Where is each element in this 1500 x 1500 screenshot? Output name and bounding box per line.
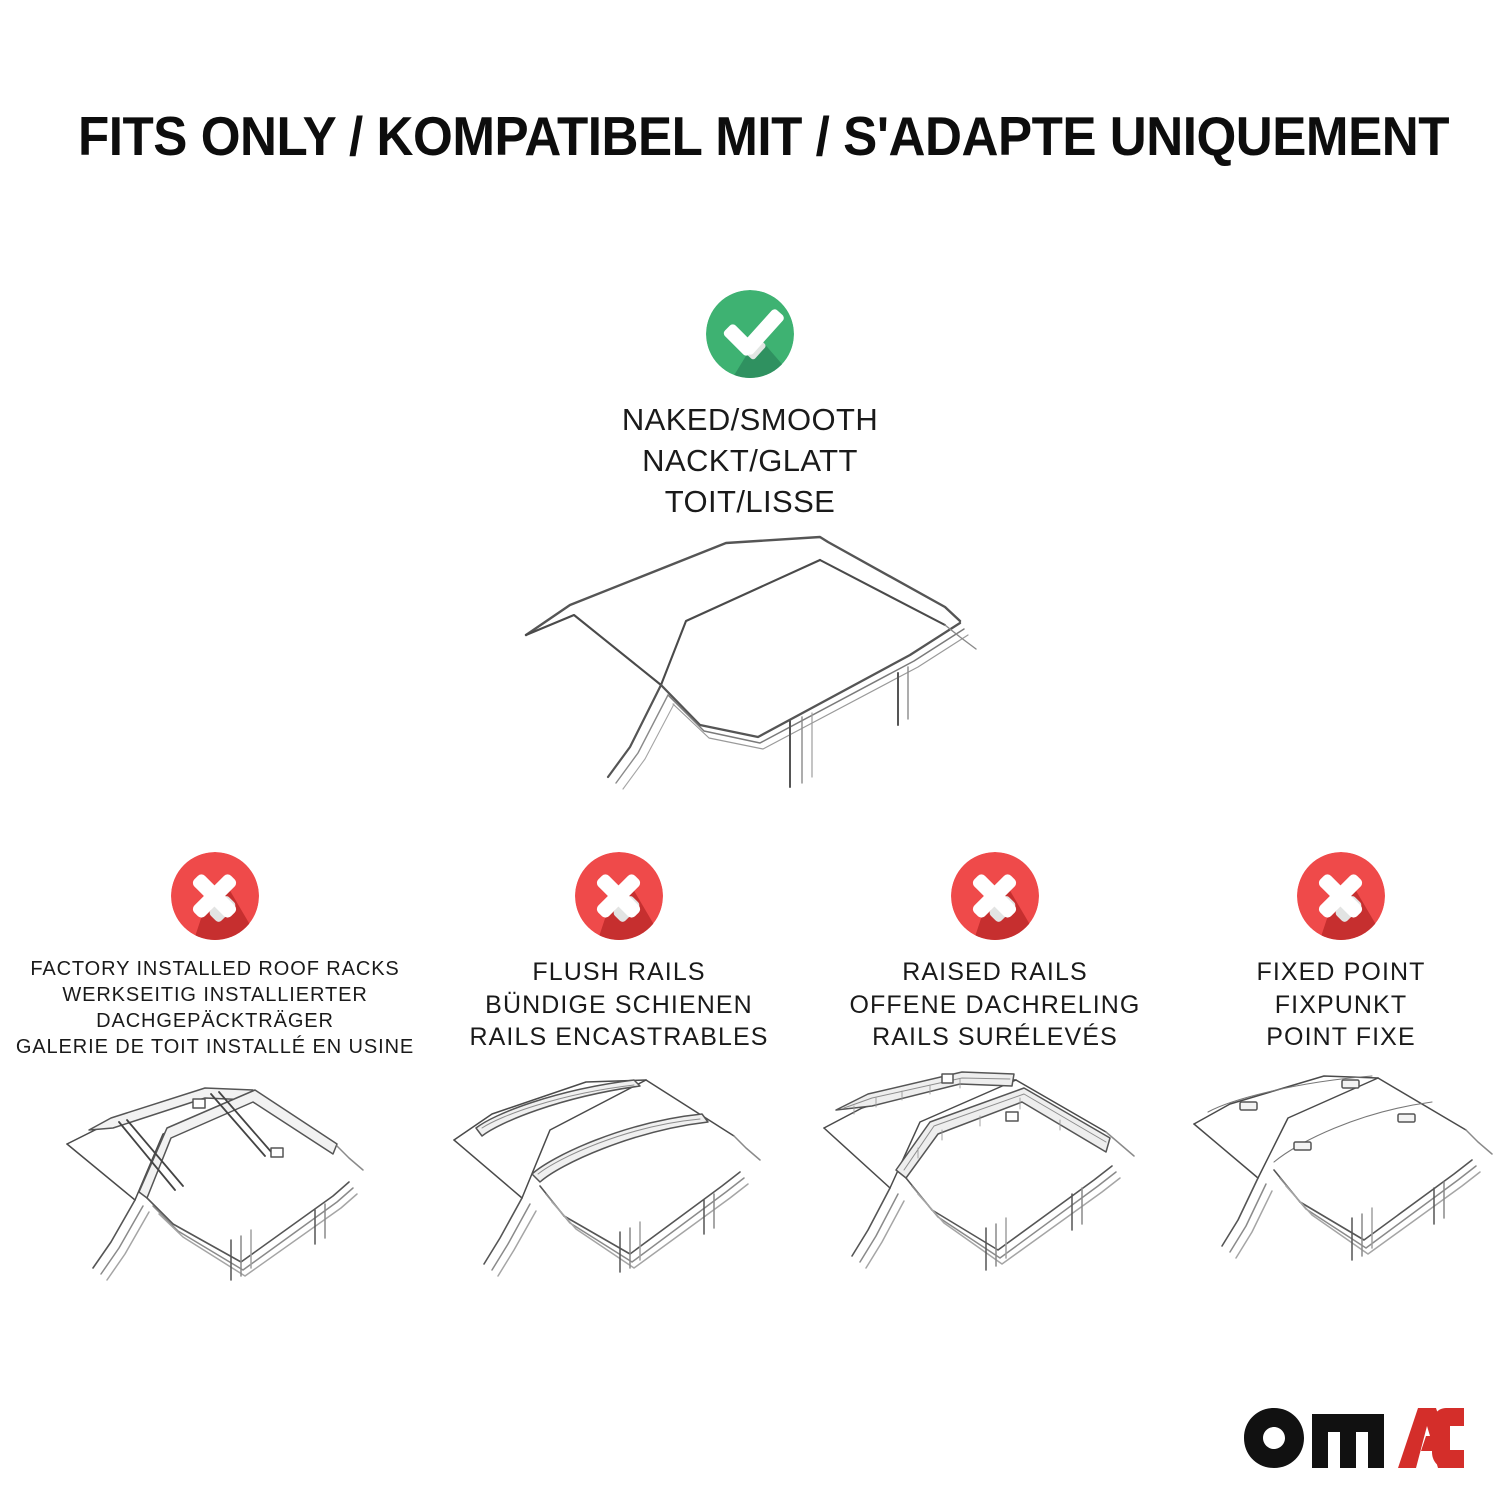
omac-logo: OMAC — [1240, 1406, 1468, 1470]
caption-line: RAILS SURÉLEVÉS — [808, 1021, 1182, 1054]
incompatible-section: FACTORY INSTALLED ROOF RACKS WERKSEITIG … — [0, 852, 1500, 1302]
incompatible-column-raised-rails: RAISED RAILS OFFENE DACHRELING RAILS SUR… — [808, 852, 1182, 1302]
caption-line: OFFENE DACHRELING — [808, 989, 1182, 1022]
caption-line: TOIT/LISSE — [0, 482, 1500, 523]
x-glyph — [171, 852, 259, 940]
column-caption: FLUSH RAILS BÜNDIGE SCHIENEN RAILS ENCAS… — [430, 956, 808, 1054]
compatible-section: NAKED/SMOOTH NACKT/GLATT TOIT/LISSE — [0, 290, 1500, 523]
caption-line: DACHGEPÄCKTRÄGER — [0, 1008, 430, 1034]
incompatible-column-fixed-point: FIXED POINT FIXPUNKT POINT FIXE — [1182, 852, 1500, 1302]
caption-line: POINT FIXE — [1182, 1021, 1500, 1054]
compatible-caption: NAKED/SMOOTH NACKT/GLATT TOIT/LISSE — [0, 400, 1500, 523]
car-roof-naked-smooth-illustration — [0, 525, 1500, 820]
incompatible-column-factory-racks: FACTORY INSTALLED ROOF RACKS WERKSEITIG … — [0, 852, 430, 1302]
caption-line: FIXPUNKT — [1182, 989, 1500, 1022]
car-roof-raised-rails-illustration — [808, 1066, 1182, 1296]
page-title: FITS ONLY / KOMPATIBEL MIT / S'ADAPTE UN… — [78, 108, 1334, 166]
check-circle-icon — [706, 290, 794, 378]
column-caption: FIXED POINT FIXPUNKT POINT FIXE — [1182, 956, 1500, 1054]
x-circle-icon — [171, 852, 259, 940]
column-caption: RAISED RAILS OFFENE DACHRELING RAILS SUR… — [808, 956, 1182, 1054]
car-roof-flush-rails-illustration — [430, 1066, 808, 1296]
caption-line: WERKSEITIG INSTALLIERTER — [0, 982, 430, 1008]
car-roof-fixed-point-illustration — [1182, 1066, 1500, 1296]
x-glyph — [1297, 852, 1385, 940]
caption-line: BÜNDIGE SCHIENEN — [430, 989, 808, 1022]
caption-line: RAISED RAILS — [808, 956, 1182, 989]
caption-line: GALERIE DE TOIT INSTALLÉ EN USINE — [0, 1034, 430, 1060]
car-roof-factory-racks-illustration — [0, 1072, 430, 1302]
infographic-page: FITS ONLY / KOMPATIBEL MIT / S'ADAPTE UN… — [0, 0, 1500, 1500]
x-glyph — [575, 852, 663, 940]
x-circle-icon — [951, 852, 1039, 940]
x-circle-icon — [575, 852, 663, 940]
caption-line: FACTORY INSTALLED ROOF RACKS — [0, 956, 430, 982]
caption-line: NAKED/SMOOTH — [0, 400, 1500, 441]
incompatible-column-flush-rails: FLUSH RAILS BÜNDIGE SCHIENEN RAILS ENCAS… — [430, 852, 808, 1302]
column-caption: FACTORY INSTALLED ROOF RACKS WERKSEITIG … — [0, 956, 430, 1060]
x-circle-icon — [1297, 852, 1385, 940]
check-glyph — [706, 290, 794, 378]
caption-line: RAILS ENCASTRABLES — [430, 1021, 808, 1054]
caption-line: FLUSH RAILS — [430, 956, 808, 989]
x-glyph — [951, 852, 1039, 940]
caption-line: FIXED POINT — [1182, 956, 1500, 989]
caption-line: NACKT/GLATT — [0, 441, 1500, 482]
